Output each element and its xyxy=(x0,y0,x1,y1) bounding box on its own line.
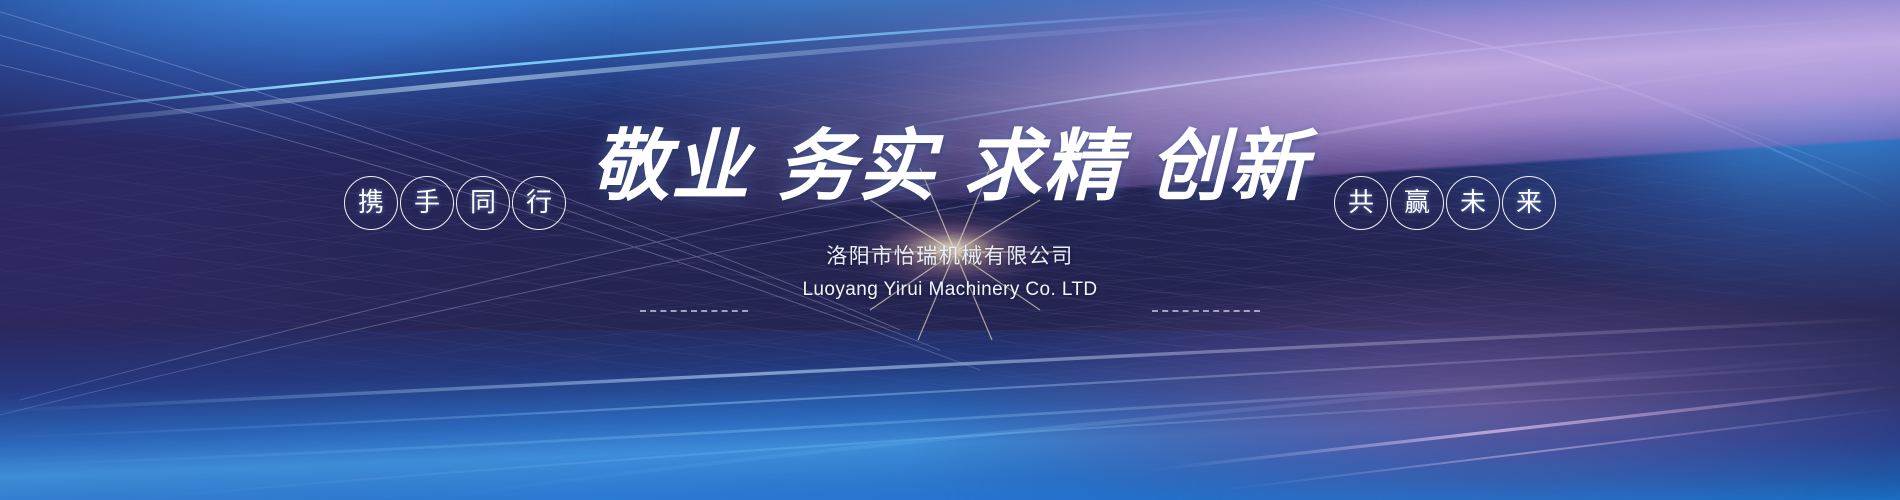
circle-char-6: 未 xyxy=(1446,176,1500,230)
circle-char-5: 赢 xyxy=(1390,176,1444,230)
slogan-group-1: 务实 xyxy=(777,121,937,212)
slogan-group-3: 创新 xyxy=(1149,121,1309,212)
slogan-group-2: 求精 xyxy=(963,121,1123,212)
circle-char-4: 共 xyxy=(1334,176,1388,230)
slogan-calligraphy: 敬业务实求精创新 xyxy=(0,128,1900,206)
corporate-banner: 携 手 同 行 敬业务实求精创新 共 赢 未 来 洛阳市怡瑞机械有限公司 Luo… xyxy=(0,0,1900,500)
slogan-group-0: 敬业 xyxy=(591,121,751,212)
company-name-en: Luoyang Yirui Machinery Co. LTD xyxy=(0,279,1900,301)
dashed-divider-left xyxy=(640,310,748,312)
dashed-divider-right xyxy=(1152,310,1260,312)
right-circle-group: 共 赢 未 来 xyxy=(1334,176,1558,230)
circle-char-7: 来 xyxy=(1502,176,1556,230)
company-name-block: 洛阳市怡瑞机械有限公司 Luoyang Yirui Machinery Co. … xyxy=(0,240,1900,301)
company-name-cn: 洛阳市怡瑞机械有限公司 xyxy=(0,240,1900,270)
